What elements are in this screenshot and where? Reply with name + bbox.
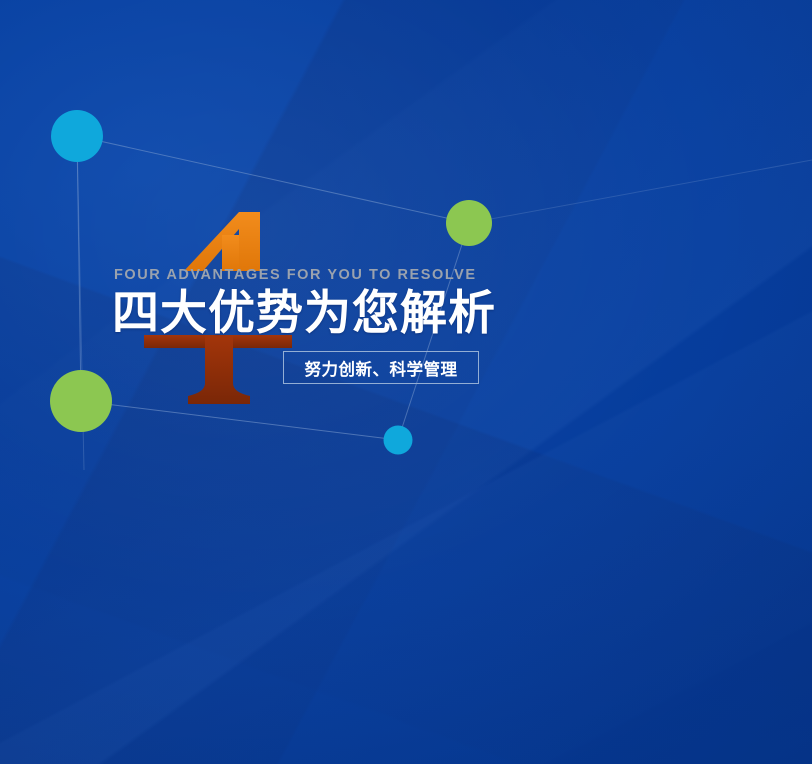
- node-green-bottom-left: [50, 370, 112, 432]
- node-cyan-top-left: [51, 110, 103, 162]
- link-green-tr-to-edge-right: [469, 160, 812, 223]
- link-green-bl-to-cyan-br: [81, 401, 398, 440]
- eyebrow-text: FOUR ADVANTAGES FOR YOU TO RESOLVE: [114, 268, 672, 284]
- headline-block: FOUR ADVANTAGES FOR YOU TO RESOLVE 四大优势为…: [112, 268, 672, 339]
- node-green-top-right: [446, 200, 492, 246]
- banner-stage: FOUR ADVANTAGES FOR YOU TO RESOLVE 四大优势为…: [0, 0, 812, 764]
- node-cyan-bottom-right: [384, 426, 413, 455]
- logo-upper-stylized-four: [184, 212, 260, 271]
- logo-lower-pedestal: [144, 335, 292, 404]
- tagline-badge[interactable]: 努力创新、科学管理: [283, 351, 479, 384]
- page-title: 四大优势为您解析: [112, 288, 672, 339]
- tagline-text: 努力创新、科学管理: [305, 356, 458, 380]
